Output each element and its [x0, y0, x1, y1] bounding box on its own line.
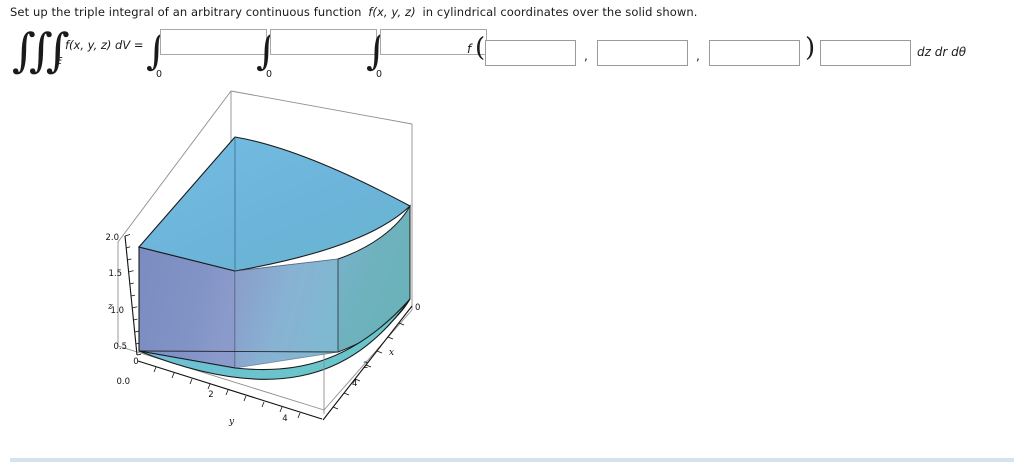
- section-divider: [10, 458, 1014, 462]
- integral-lower-limit-1: 0: [156, 69, 162, 80]
- open-paren: (: [475, 35, 485, 61]
- y-axis-label: y: [228, 417, 235, 427]
- y-tick-label-4: 4: [282, 414, 287, 424]
- upper-limit-input-2[interactable]: [270, 29, 377, 55]
- x-axis-label: x: [389, 348, 394, 358]
- x-tick-label-4: 4: [352, 379, 357, 389]
- function-symbol: f: [467, 42, 471, 56]
- prompt-text-before: Set up the triple integral of an arbitra…: [10, 5, 362, 19]
- z-tick-label-0.5: 0.5: [113, 342, 127, 352]
- prompt-function-expression: f(x, y, z): [365, 5, 418, 19]
- solid-region-plot: 2.0 1.5 1.0 0.5 0.0 z 0 2: [92, 84, 432, 429]
- region-subscript-label: E: [56, 56, 62, 67]
- function-argument-input-1[interactable]: [485, 40, 576, 66]
- x-tick-label-0: 0: [415, 303, 420, 313]
- z-axis-label: z: [107, 302, 113, 312]
- upper-limit-input-1[interactable]: [160, 29, 267, 55]
- integrand-expression: f(x, y, z) dV =: [65, 38, 144, 52]
- argument-separator-2: ,: [696, 49, 700, 63]
- y-tick-label-0: 0: [133, 357, 138, 367]
- x-tick-label-2: 2: [363, 361, 368, 371]
- integral-lower-limit-3: 0: [376, 69, 382, 80]
- function-argument-input-3[interactable]: [709, 40, 800, 66]
- function-argument-input-2[interactable]: [597, 40, 688, 66]
- z-tick-label-0.0: 0.0: [116, 377, 130, 387]
- y-tick-label-2: 2: [208, 390, 213, 400]
- integral-lower-limit-2: 0: [266, 69, 272, 80]
- question-prompt: Set up the triple integral of an arbitra…: [10, 5, 698, 19]
- differentials-label: dz dr dθ: [917, 45, 966, 59]
- z-tick-label-2.0: 2.0: [105, 233, 119, 243]
- argument-separator-1: ,: [584, 49, 588, 63]
- prompt-text-after: in cylindrical coordinates over the soli…: [422, 5, 697, 19]
- jacobian-factor-input[interactable]: [820, 40, 911, 66]
- close-paren: ): [805, 35, 815, 61]
- z-tick-label-1.5: 1.5: [108, 269, 122, 279]
